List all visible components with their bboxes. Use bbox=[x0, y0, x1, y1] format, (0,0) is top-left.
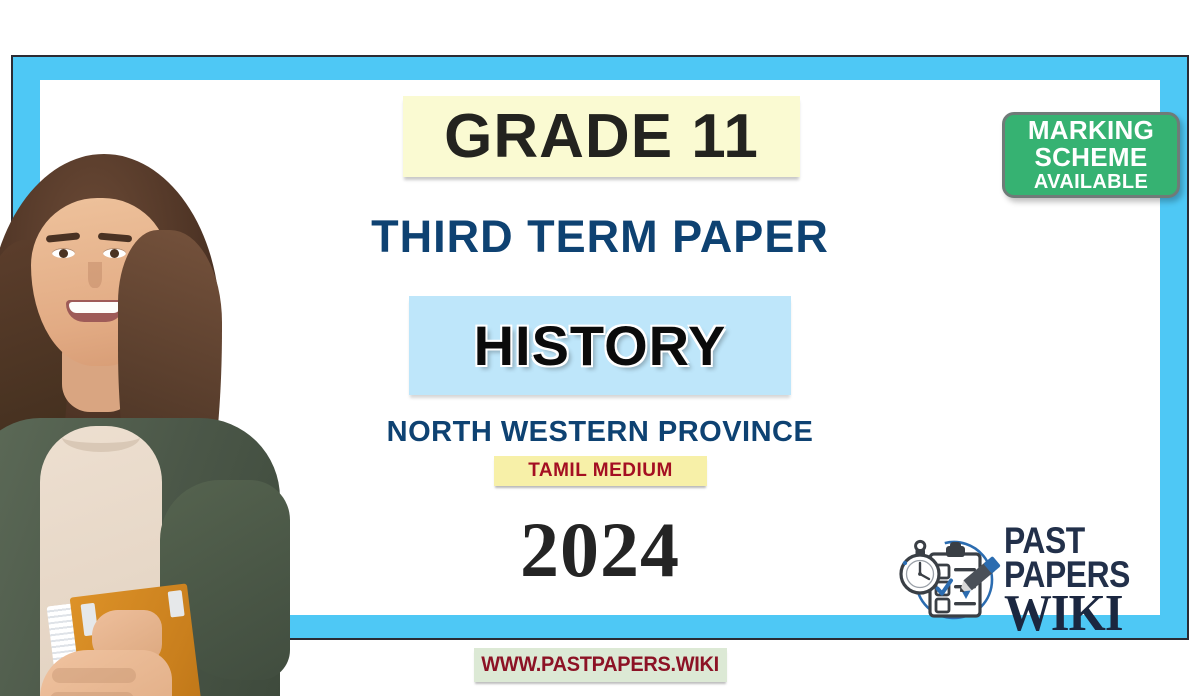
student-photo bbox=[0, 150, 300, 696]
logo-line-1: PAST PAPERS bbox=[1004, 524, 1147, 592]
book-tab-side bbox=[168, 590, 185, 618]
student-pupil-right bbox=[110, 249, 119, 258]
student-collar bbox=[62, 422, 140, 452]
badge-line-3: AVAILABLE bbox=[1034, 171, 1148, 193]
grade-label: GRADE 11 bbox=[444, 106, 759, 168]
student-pupil-left bbox=[59, 249, 68, 258]
badge-line-2: SCHEME bbox=[1034, 144, 1147, 171]
clipboard-stopwatch-pencil-icon bbox=[898, 532, 1002, 628]
student-finger bbox=[50, 692, 134, 696]
medium-banner: TAMIL MEDIUM bbox=[494, 456, 707, 486]
website-url-label: WWW.PASTPAPERS.WIKI bbox=[482, 653, 720, 677]
logo-wordmark: PAST PAPERS WIKI bbox=[1004, 524, 1170, 637]
badge-line-1: MARKING bbox=[1028, 117, 1154, 144]
grade-banner: GRADE 11 bbox=[403, 96, 800, 177]
student-finger bbox=[52, 668, 136, 683]
subject-label: HISTORY bbox=[474, 318, 727, 374]
subject-banner: HISTORY bbox=[409, 296, 791, 395]
poster-canvas: GRADE 11 THIRD TERM PAPER HISTORY NORTH … bbox=[0, 0, 1200, 696]
student-nose bbox=[88, 262, 102, 288]
website-url-banner[interactable]: WWW.PASTPAPERS.WIKI bbox=[474, 648, 727, 682]
marking-scheme-badge[interactable]: MARKING SCHEME AVAILABLE bbox=[1002, 112, 1180, 198]
logo-line-2: WIKI bbox=[1004, 592, 1157, 637]
student-teeth bbox=[69, 302, 121, 313]
past-papers-wiki-logo[interactable]: PAST PAPERS WIKI bbox=[898, 530, 1170, 630]
medium-label: TAMIL MEDIUM bbox=[528, 460, 673, 482]
student-smile bbox=[66, 300, 124, 322]
